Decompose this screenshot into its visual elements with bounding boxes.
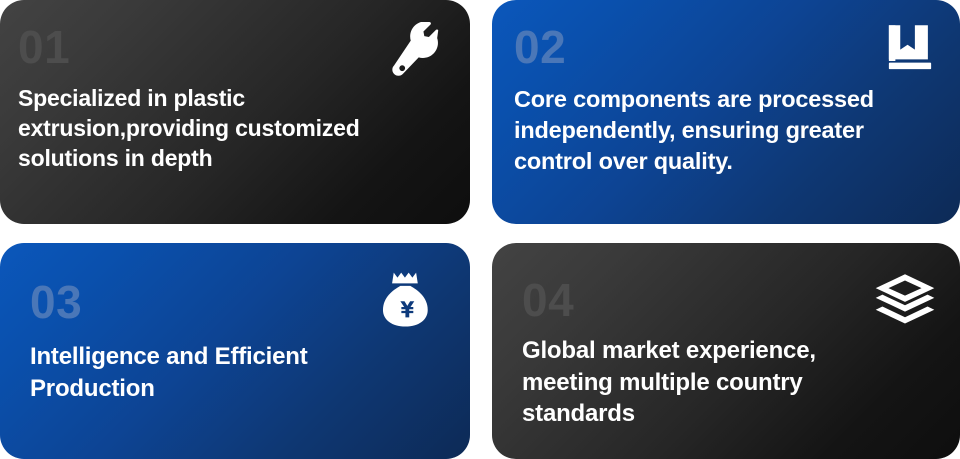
feature-card-02[interactable]: 02 Core components are processed indepen…	[492, 0, 960, 224]
book-bookmark-icon	[884, 22, 936, 74]
layers-stack-icon	[874, 273, 936, 329]
feature-card-grid: 01 Specialized in plastic extrusion,prov…	[0, 0, 960, 459]
card-title-02: Core components are processed independen…	[514, 84, 930, 177]
wrench-icon	[388, 22, 444, 78]
card-number-03: 03	[30, 279, 440, 325]
card-number-01: 01	[18, 24, 440, 70]
card-number-02: 02	[514, 24, 930, 70]
card-title-04: Global market experience, meeting multip…	[522, 335, 930, 430]
card-number-04: 04	[522, 277, 930, 323]
card-title-01: Specialized in plastic extrusion,providi…	[18, 84, 440, 174]
feature-card-04[interactable]: 04 Global market experience, meeting mul…	[492, 243, 960, 459]
card-title-03: Intelligence and Efficient Production	[30, 341, 440, 406]
money-bag-yen-icon	[380, 271, 434, 329]
feature-card-01[interactable]: 01 Specialized in plastic extrusion,prov…	[0, 0, 470, 224]
feature-card-03[interactable]: 03 Intelligence and Efficient Production	[0, 243, 470, 459]
